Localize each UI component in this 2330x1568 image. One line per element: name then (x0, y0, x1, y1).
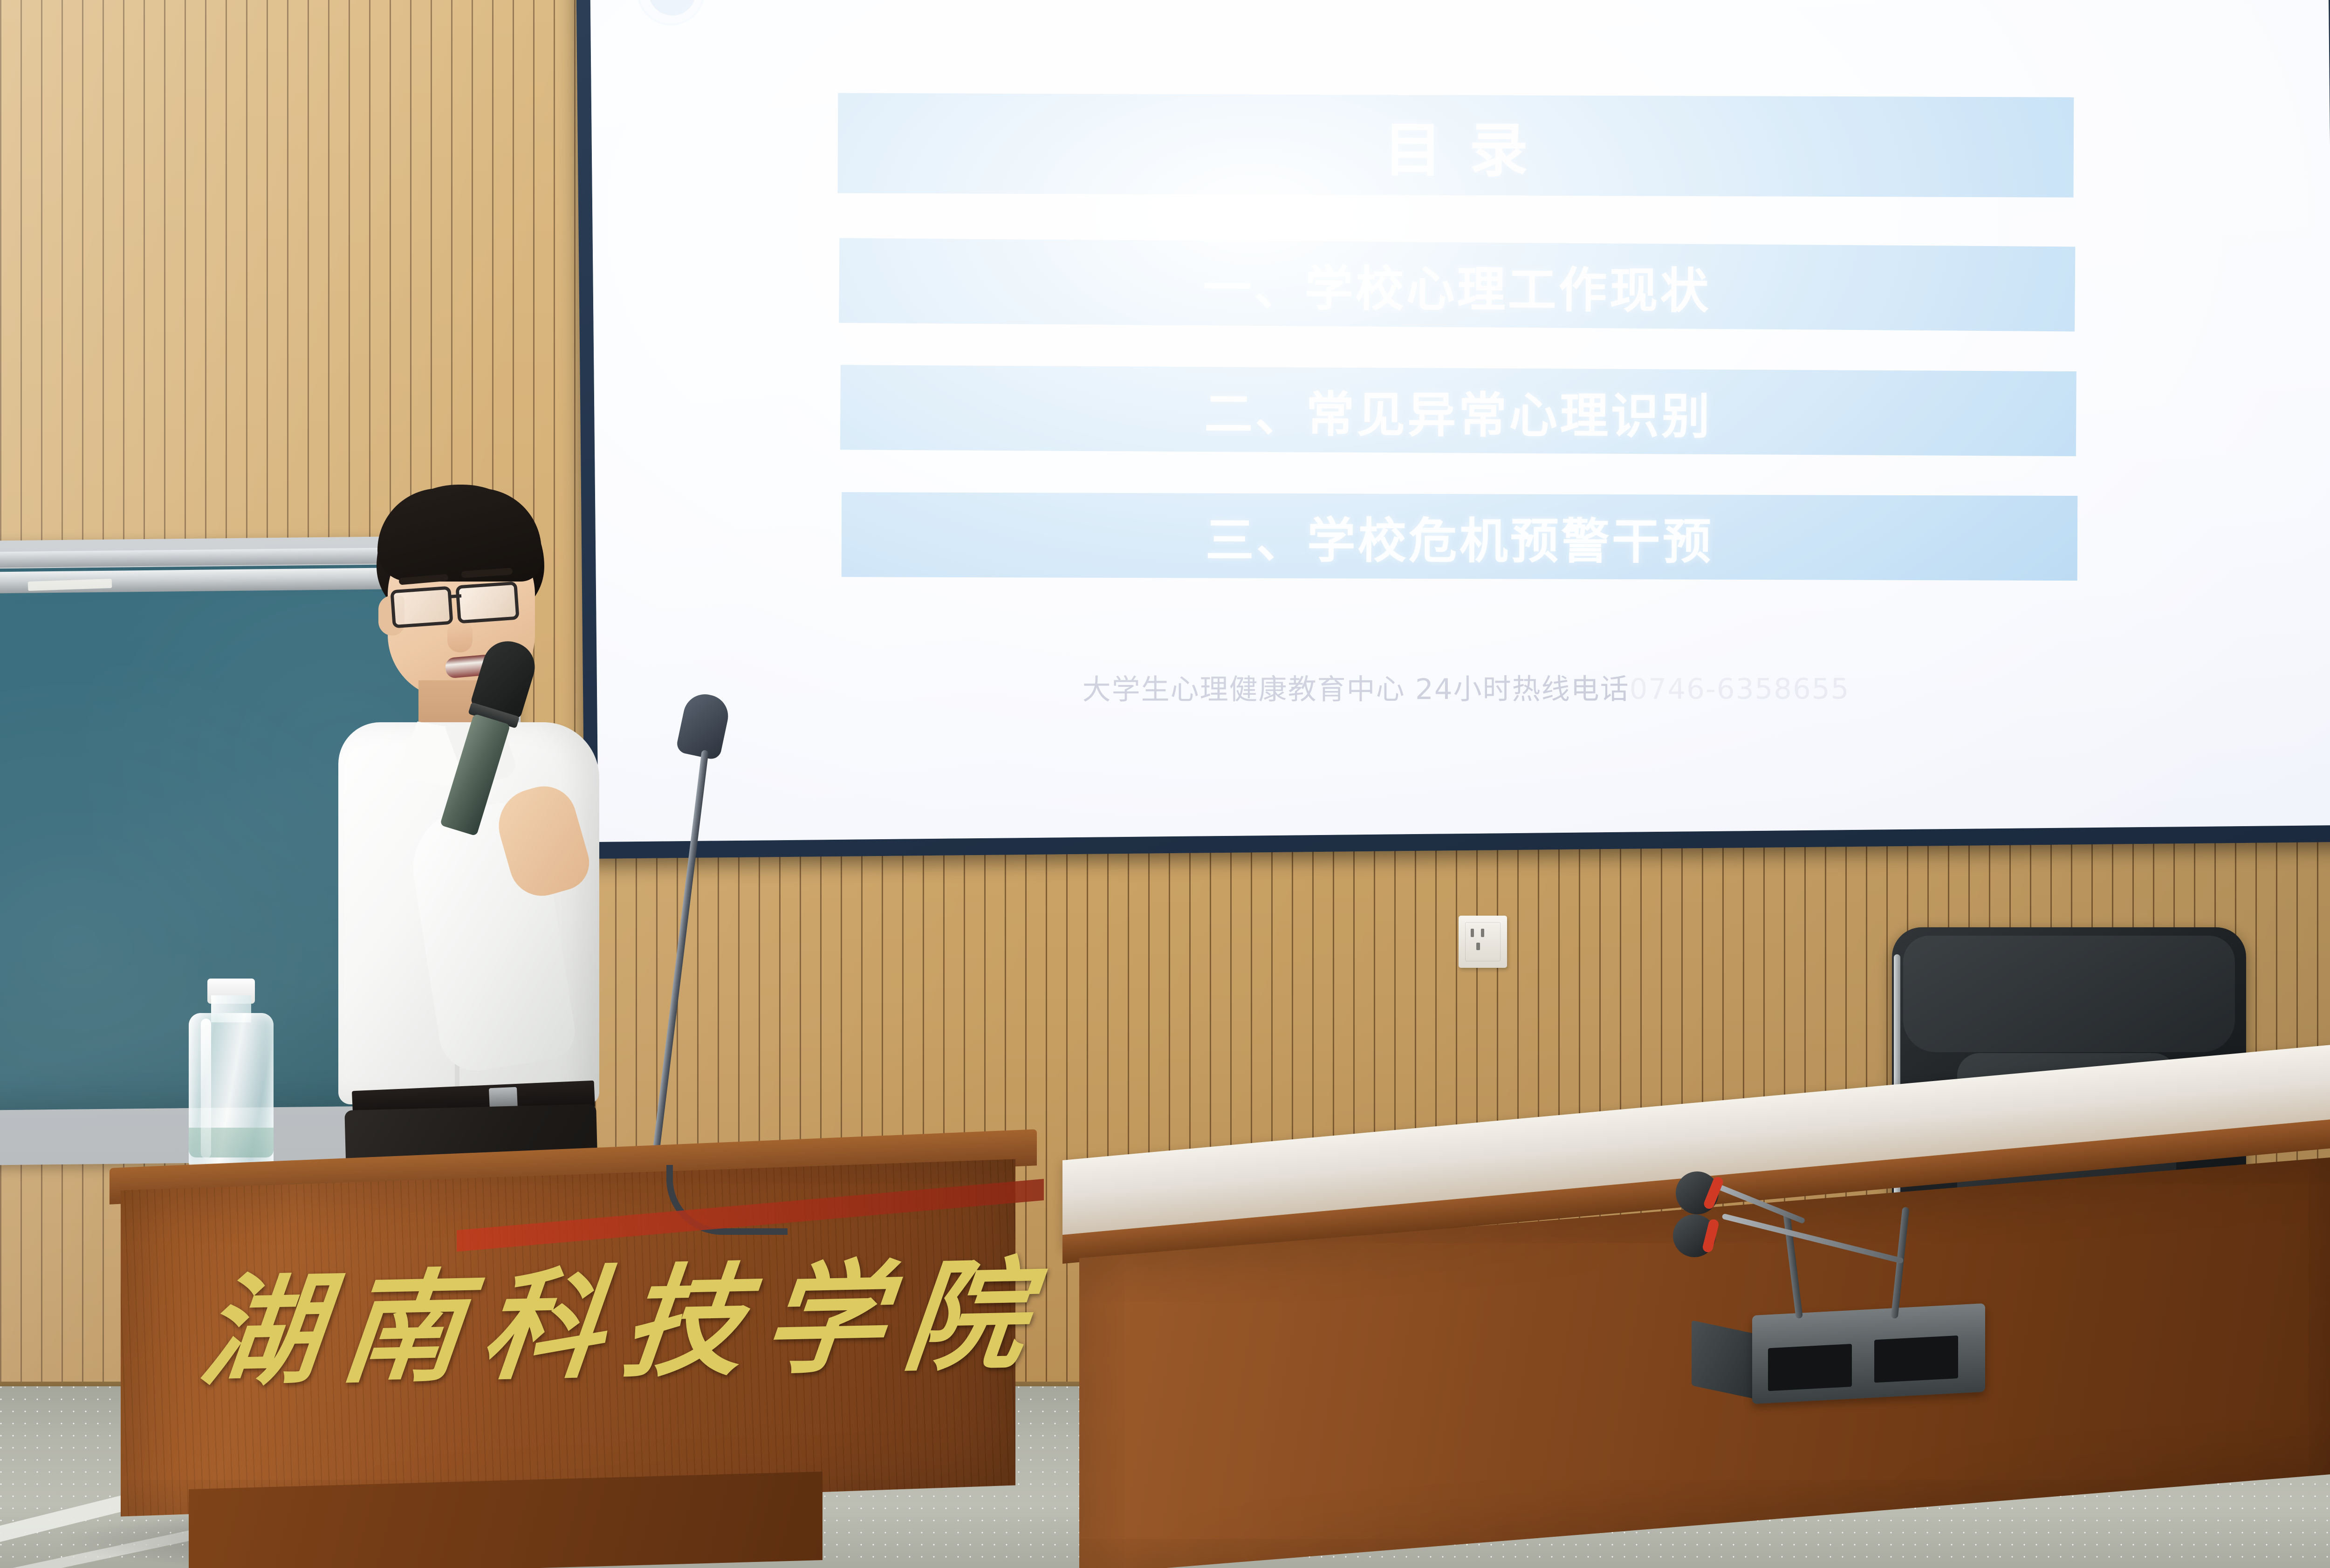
water-bottle (184, 974, 277, 1170)
desk-mic-base (1752, 1303, 1985, 1404)
presenter-nose (447, 620, 473, 652)
eyeglasses-lens-left (390, 586, 453, 629)
desk-mic-gooseneck-1 (1783, 1212, 1803, 1319)
lecture-hall-scene: HUNAN UNIVERSITY OF SCIENCE AND ENGINEER… (0, 0, 2330, 1568)
outlet-ground-slot (1476, 943, 1480, 950)
agenda-item-3-label: 三、学校危机预警干预 (1206, 500, 1713, 572)
agenda-item-2: 二、常见异常心理识别 (840, 365, 2076, 456)
outlet-slot-right (1481, 929, 1484, 937)
chair-headrest (1903, 936, 2235, 1052)
projection-screen-frame: HUNAN UNIVERSITY OF SCIENCE AND ENGINEER… (576, 0, 2330, 859)
podium-mic-gooseneck (648, 750, 708, 1185)
eyeglasses-lens-right (455, 581, 519, 623)
slide-title-bar: 目录 (838, 93, 2074, 198)
slide-brand-header: HUNAN UNIVERSITY OF SCIENCE AND ENGINEER… (637, 0, 1166, 26)
podium-microphone (643, 694, 811, 1188)
slide-footer-center-name: 大学生心理健康教育中心 24小时热线电话 (1083, 673, 1630, 706)
slide-footer-hotline: 0746-6358655 (1630, 672, 1850, 705)
bottle-highlight (201, 1019, 211, 1158)
agenda-item-1: 一、学校心理工作现状 (839, 238, 2075, 332)
agenda-item-2-label: 二、常见异常心理识别 (1204, 374, 1713, 447)
slide-title-text: 目录 (1357, 103, 1556, 188)
university-seal-icon (637, 0, 705, 26)
outlet-inner-plate (1465, 922, 1501, 961)
podium-inscription: 湖南科技学院 (193, 1220, 939, 1409)
desk-mic-arm-2 (1721, 1213, 1904, 1264)
wall-outlet-icon (1459, 916, 1507, 968)
presenter (308, 480, 643, 1207)
presenter-hair-front (377, 488, 541, 582)
agenda-item-1-label: 一、学校心理工作现状 (1203, 248, 1711, 322)
projection-screen-surface: HUNAN UNIVERSITY OF SCIENCE AND ENGINEER… (590, 0, 2330, 842)
slide-footer: 大学生心理健康教育中心 24小时热线电话0746-6358655 (597, 665, 2330, 708)
outlet-slot-left (1471, 929, 1474, 937)
agenda-item-3: 三、学校危机预警干预 (842, 492, 2078, 581)
agenda-list: 一、学校心理工作现状 二、常见异常心理识别 三、学校危机预警干预 (839, 236, 2078, 625)
desk-microphone-unit (1659, 1156, 2078, 1417)
